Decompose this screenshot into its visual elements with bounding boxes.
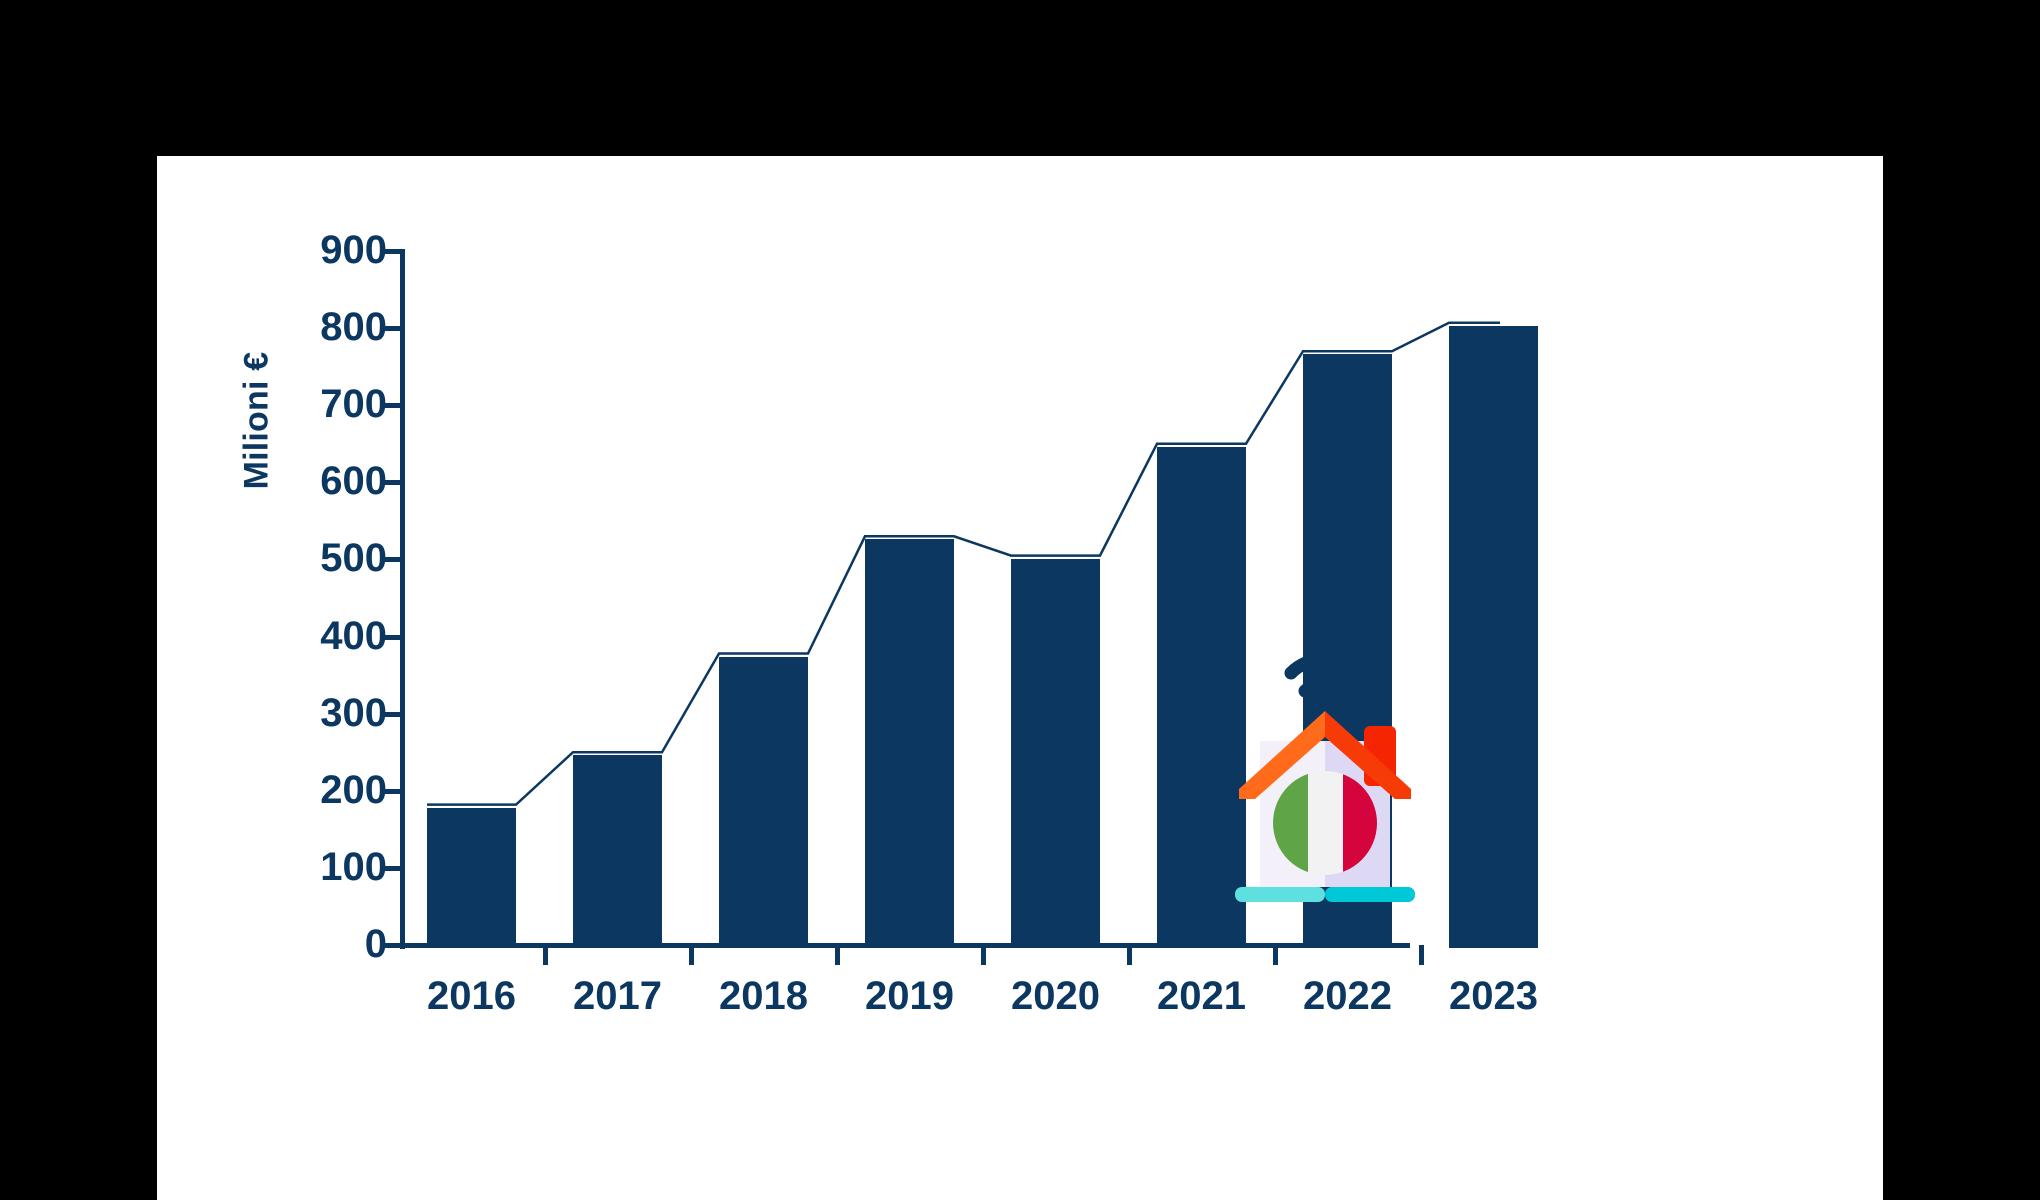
- y-tick-label: 0: [267, 924, 387, 964]
- x-tick-mark: [1127, 945, 1132, 965]
- y-tick-mark: [384, 712, 402, 717]
- y-tick-label: 200: [267, 770, 387, 810]
- wifi-icon: [1291, 659, 1359, 718]
- x-tick-mark: [1419, 945, 1424, 965]
- y-tick-label: 800: [267, 307, 387, 347]
- y-tick-mark: [384, 866, 402, 871]
- x-tick-mark: [1273, 945, 1278, 965]
- y-tick-mark: [384, 480, 402, 485]
- bar-2019[interactable]: [865, 539, 954, 948]
- x-tick-mark: [543, 945, 548, 965]
- y-tick-mark: [384, 635, 402, 640]
- y-tick-mark: [384, 326, 402, 331]
- screenshot-root: Milioni € 9008007006005004003002001000 2…: [0, 0, 2040, 1200]
- x-category-label: 2017: [548, 976, 687, 1016]
- y-tick-mark: [384, 557, 402, 562]
- x-tick-mark: [689, 945, 694, 965]
- content-panel: Milioni € 9008007006005004003002001000 2…: [157, 156, 1883, 1200]
- y-tick-mark: [384, 403, 402, 408]
- y-axis-line: [400, 249, 405, 949]
- x-category-label: 2016: [402, 976, 541, 1016]
- x-tick-mark: [835, 945, 840, 965]
- bar-2016[interactable]: [427, 808, 516, 948]
- y-tick-label: 500: [267, 538, 387, 578]
- x-tick-mark: [981, 945, 986, 965]
- base-right: [1325, 887, 1415, 902]
- base-left: [1235, 887, 1325, 902]
- y-tick-label: 300: [267, 693, 387, 733]
- bar-2023[interactable]: [1449, 326, 1538, 948]
- y-tick-mark: [384, 789, 402, 794]
- x-category-label: 2023: [1424, 976, 1563, 1016]
- smart-home-italy-icon: [1225, 641, 1425, 906]
- y-tick-label: 700: [267, 384, 387, 424]
- bar-2020[interactable]: [1011, 559, 1100, 948]
- x-category-label: 2021: [1132, 976, 1271, 1016]
- x-category-label: 2020: [986, 976, 1125, 1016]
- y-tick-label: 900: [267, 230, 387, 270]
- y-tick-mark: [384, 249, 402, 254]
- bar-2018[interactable]: [719, 657, 808, 948]
- y-tick-label: 400: [267, 616, 387, 656]
- y-tick-mark: [384, 943, 402, 948]
- x-category-label: 2019: [840, 976, 979, 1016]
- bar-2017[interactable]: [573, 755, 662, 948]
- y-tick-label: 600: [267, 461, 387, 501]
- bar-chart: Milioni € 9008007006005004003002001000 2…: [157, 156, 1883, 1200]
- y-tick-label: 100: [267, 847, 387, 887]
- x-category-label: 2022: [1278, 976, 1417, 1016]
- y-axis-tick-labels: 9008007006005004003002001000: [237, 156, 387, 1200]
- x-category-label: 2018: [694, 976, 833, 1016]
